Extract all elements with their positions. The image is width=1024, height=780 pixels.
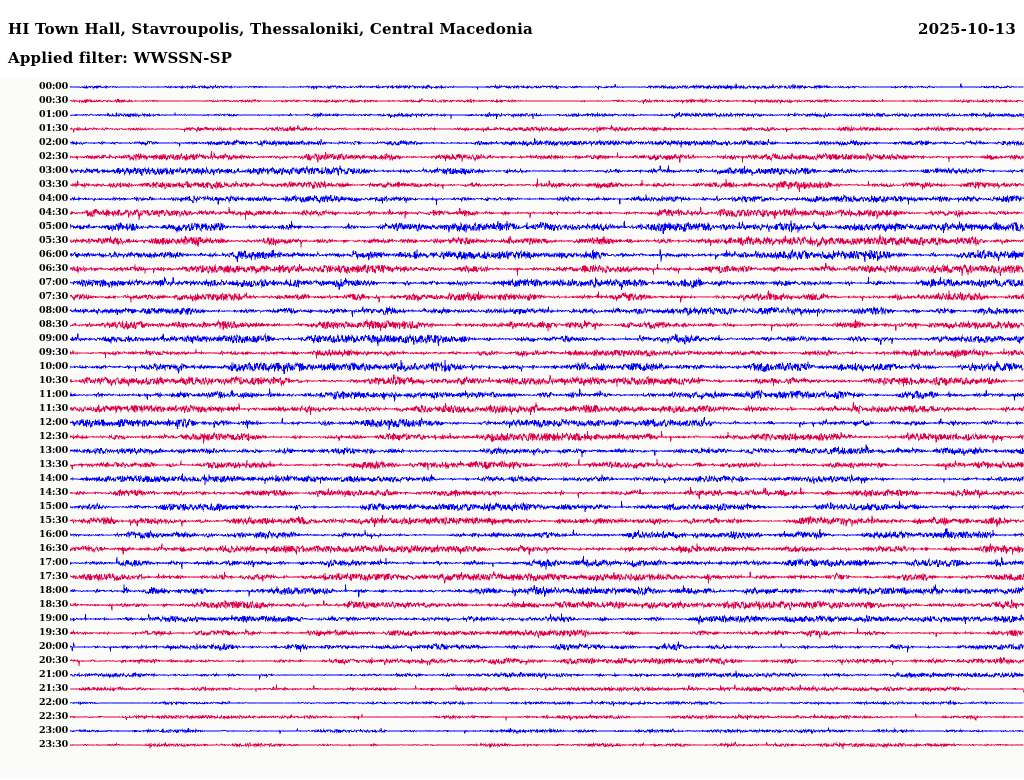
trace-row: 02:30 (0, 150, 1024, 164)
trace-row: 12:30 (0, 430, 1024, 444)
seismic-trace (70, 360, 1024, 374)
seismic-trace (70, 528, 1024, 542)
trace-row: 21:30 (0, 682, 1024, 696)
seismic-trace (70, 248, 1024, 262)
seismic-trace (70, 150, 1024, 164)
trace-row: 17:30 (0, 570, 1024, 584)
seismic-trace (70, 458, 1024, 472)
seismic-trace (70, 444, 1024, 458)
trace-row: 23:00 (0, 724, 1024, 738)
seismic-trace (70, 94, 1024, 108)
seismic-trace (70, 206, 1024, 220)
trace-time-label: 23:00 (28, 724, 68, 738)
trace-row: 09:00 (0, 332, 1024, 346)
trace-row: 04:30 (0, 206, 1024, 220)
trace-time-label: 01:00 (28, 108, 68, 122)
trace-row: 16:00 (0, 528, 1024, 542)
trace-row: 01:30 (0, 122, 1024, 136)
trace-time-label: 09:30 (28, 346, 68, 360)
trace-time-label: 16:00 (28, 528, 68, 542)
trace-row: 17:00 (0, 556, 1024, 570)
trace-row: 19:30 (0, 626, 1024, 640)
seismic-trace (70, 388, 1024, 402)
trace-row: 20:00 (0, 640, 1024, 654)
trace-row: 00:30 (0, 94, 1024, 108)
trace-row: 01:00 (0, 108, 1024, 122)
trace-time-label: 04:30 (28, 206, 68, 220)
trace-time-label: 21:30 (28, 682, 68, 696)
trace-row: 14:30 (0, 486, 1024, 500)
trace-time-label: 08:30 (28, 318, 68, 332)
trace-row: 08:30 (0, 318, 1024, 332)
trace-row: 05:30 (0, 234, 1024, 248)
seismic-trace (70, 122, 1024, 136)
trace-row: 10:00 (0, 360, 1024, 374)
trace-time-label: 15:00 (28, 500, 68, 514)
trace-row: 13:00 (0, 444, 1024, 458)
seismic-trace (70, 304, 1024, 318)
trace-time-label: 00:00 (28, 80, 68, 94)
trace-row: 15:00 (0, 500, 1024, 514)
trace-time-label: 19:30 (28, 626, 68, 640)
trace-time-label: 11:00 (28, 388, 68, 402)
seismic-trace (70, 290, 1024, 304)
trace-time-label: 00:30 (28, 94, 68, 108)
trace-time-label: 22:30 (28, 710, 68, 724)
trace-time-label: 01:30 (28, 122, 68, 136)
seismic-trace (70, 332, 1024, 346)
seismic-trace (70, 472, 1024, 486)
trace-time-label: 03:00 (28, 164, 68, 178)
seismic-trace (70, 556, 1024, 570)
trace-time-label: 22:00 (28, 696, 68, 710)
trace-time-label: 20:30 (28, 654, 68, 668)
trace-time-label: 23:30 (28, 738, 68, 752)
seismic-trace (70, 80, 1024, 94)
seismic-trace (70, 682, 1024, 696)
trace-time-label: 07:00 (28, 276, 68, 290)
trace-time-label: 14:30 (28, 486, 68, 500)
seismic-trace (70, 374, 1024, 388)
trace-row: 15:30 (0, 514, 1024, 528)
trace-row: 22:00 (0, 696, 1024, 710)
trace-row: 08:00 (0, 304, 1024, 318)
seismic-trace (70, 514, 1024, 528)
seismic-trace (70, 724, 1024, 738)
helicorder-plot: 00:0000:3001:0001:3002:0002:3003:0003:30… (0, 78, 1024, 778)
trace-row: 10:30 (0, 374, 1024, 388)
trace-row: 09:30 (0, 346, 1024, 360)
seismic-trace (70, 486, 1024, 500)
trace-time-label: 02:30 (28, 150, 68, 164)
seismic-trace (70, 136, 1024, 150)
seismic-trace (70, 276, 1024, 290)
seismic-trace (70, 234, 1024, 248)
trace-row: 07:00 (0, 276, 1024, 290)
trace-time-label: 13:00 (28, 444, 68, 458)
trace-time-label: 18:00 (28, 584, 68, 598)
trace-row: 06:30 (0, 262, 1024, 276)
trace-time-label: 20:00 (28, 640, 68, 654)
trace-time-label: 16:30 (28, 542, 68, 556)
seismic-trace (70, 262, 1024, 276)
trace-time-label: 11:30 (28, 402, 68, 416)
seismic-trace (70, 542, 1024, 556)
applied-filter-label: Applied filter: WWSSN-SP (8, 49, 232, 67)
trace-row: 22:30 (0, 710, 1024, 724)
record-date: 2025-10-13 (918, 20, 1016, 38)
trace-time-label: 21:00 (28, 668, 68, 682)
seismic-trace (70, 570, 1024, 584)
seismic-trace (70, 164, 1024, 178)
trace-row: 14:00 (0, 472, 1024, 486)
trace-row: 03:30 (0, 178, 1024, 192)
seismic-trace (70, 696, 1024, 710)
seismic-trace (70, 668, 1024, 682)
seismic-trace (70, 416, 1024, 430)
header: HI Town Hall, Stavroupolis, Thessaloniki… (0, 0, 1024, 78)
seismic-trace (70, 346, 1024, 360)
seismic-trace (70, 192, 1024, 206)
trace-time-label: 15:30 (28, 514, 68, 528)
trace-time-label: 09:00 (28, 332, 68, 346)
trace-time-label: 05:30 (28, 234, 68, 248)
trace-row: 00:00 (0, 80, 1024, 94)
seismic-trace (70, 710, 1024, 724)
trace-time-label: 10:30 (28, 374, 68, 388)
seismic-trace (70, 318, 1024, 332)
trace-time-label: 02:00 (28, 136, 68, 150)
trace-time-label: 17:00 (28, 556, 68, 570)
seismic-trace (70, 654, 1024, 668)
trace-time-label: 19:00 (28, 612, 68, 626)
trace-row: 11:00 (0, 388, 1024, 402)
trace-time-label: 14:00 (28, 472, 68, 486)
trace-time-label: 08:00 (28, 304, 68, 318)
trace-time-label: 12:30 (28, 430, 68, 444)
trace-row: 13:30 (0, 458, 1024, 472)
trace-row: 19:00 (0, 612, 1024, 626)
trace-row: 03:00 (0, 164, 1024, 178)
trace-row: 18:00 (0, 584, 1024, 598)
trace-time-label: 06:30 (28, 262, 68, 276)
trace-time-label: 12:00 (28, 416, 68, 430)
seismic-trace (70, 598, 1024, 612)
trace-time-label: 17:30 (28, 570, 68, 584)
trace-time-label: 13:30 (28, 458, 68, 472)
trace-time-label: 18:30 (28, 598, 68, 612)
trace-row: 16:30 (0, 542, 1024, 556)
trace-row: 18:30 (0, 598, 1024, 612)
seismic-trace (70, 220, 1024, 234)
seismic-trace (70, 178, 1024, 192)
seismic-trace (70, 738, 1024, 752)
seismic-trace (70, 626, 1024, 640)
trace-row: 02:00 (0, 136, 1024, 150)
seismic-trace (70, 584, 1024, 598)
trace-time-label: 10:00 (28, 360, 68, 374)
trace-time-label: 07:30 (28, 290, 68, 304)
seismic-trace (70, 430, 1024, 444)
trace-row: 21:00 (0, 668, 1024, 682)
trace-row: 20:30 (0, 654, 1024, 668)
seismic-trace (70, 402, 1024, 416)
trace-row: 12:00 (0, 416, 1024, 430)
page-title: HI Town Hall, Stavroupolis, Thessaloniki… (8, 20, 533, 38)
helicorder-page: HI Town Hall, Stavroupolis, Thessaloniki… (0, 0, 1024, 780)
trace-time-label: 04:00 (28, 192, 68, 206)
trace-time-label: 06:00 (28, 248, 68, 262)
seismic-trace (70, 640, 1024, 654)
trace-time-label: 03:30 (28, 178, 68, 192)
trace-row: 04:00 (0, 192, 1024, 206)
trace-row: 07:30 (0, 290, 1024, 304)
trace-row: 05:00 (0, 220, 1024, 234)
seismic-trace (70, 500, 1024, 514)
seismic-trace (70, 108, 1024, 122)
trace-row: 23:30 (0, 738, 1024, 752)
trace-row: 06:00 (0, 248, 1024, 262)
trace-time-label: 05:00 (28, 220, 68, 234)
seismic-trace (70, 612, 1024, 626)
trace-row: 11:30 (0, 402, 1024, 416)
